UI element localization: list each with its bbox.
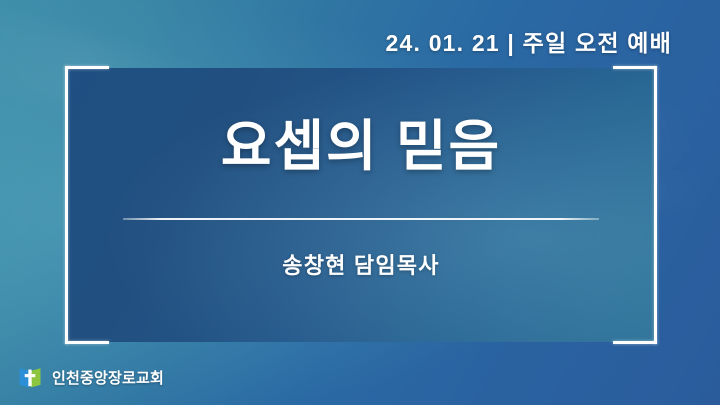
title-frame-panel: 요셉의 믿음 송창현 담임목사 (65, 66, 657, 344)
open-book-cross-icon (16, 363, 44, 391)
sermon-title-slide: 24. 01. 21 | 주일 오전 예배 요셉의 믿음 송창현 담임목사 인천… (0, 0, 720, 405)
service-date-header: 24. 01. 21 | 주일 오전 예배 (386, 24, 672, 58)
sermon-title: 요셉의 믿음 (221, 118, 501, 176)
speaker-name: 송창현 담임목사 (282, 248, 439, 280)
church-name-label: 인천중앙장로교회 (52, 367, 164, 388)
title-divider (123, 218, 599, 220)
church-footer: 인천중앙장로교회 (16, 363, 164, 391)
panel-content: 요셉의 믿음 송창현 담임목사 (65, 66, 657, 344)
